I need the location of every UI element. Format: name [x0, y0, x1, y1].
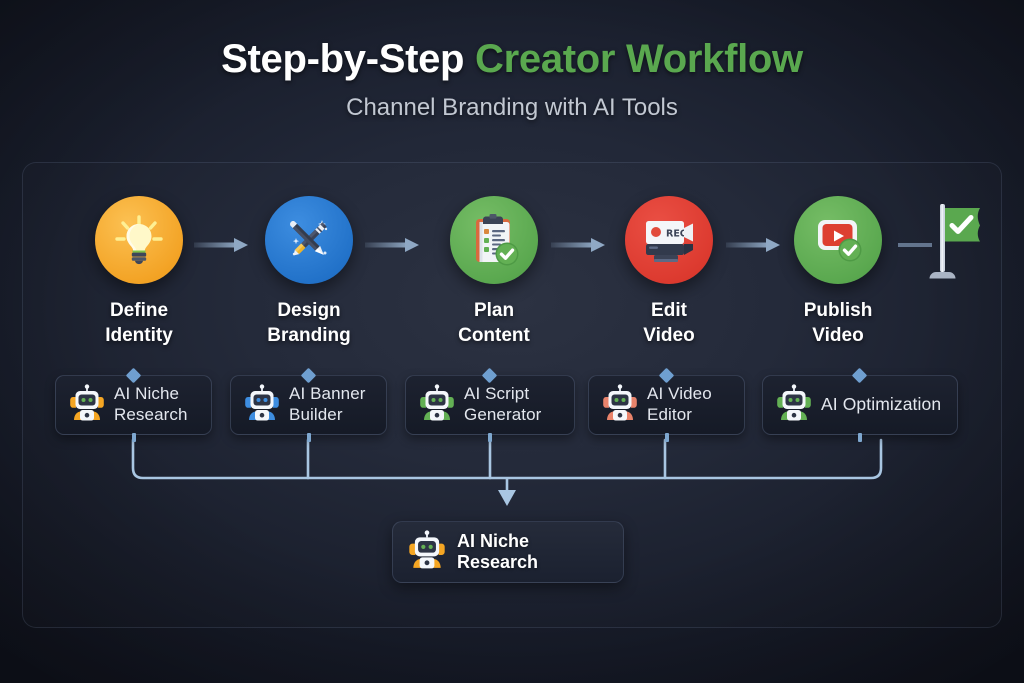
arrow-right-icon	[726, 237, 782, 253]
tool-card-label: AI Video Editor	[647, 384, 712, 425]
workflow-step-label: Plan Content	[419, 298, 569, 349]
arrow-right-icon	[194, 237, 250, 253]
step-label-line2: Branding	[234, 323, 384, 348]
checkered-goal-flag-icon	[922, 200, 1002, 286]
header: Step-by-Step Creator Workflow Channel Br…	[0, 38, 1024, 122]
card-bottom-connector-stub	[132, 433, 136, 442]
tool-card-ai-script-generator[interactable]: AI Script Generator	[405, 375, 575, 435]
step-label-line2: Content	[419, 323, 569, 348]
tool-card-label-line2: Generator	[464, 405, 541, 426]
card-bottom-connector-stub	[665, 433, 669, 442]
workflow-step-edit-video[interactable]: REC Edit Video	[594, 196, 744, 349]
workflow-step-plan-content[interactable]: Plan Content	[419, 196, 569, 349]
robot-icon	[69, 384, 105, 427]
tool-card-ai-niche-research[interactable]: AI Niche Research	[55, 375, 212, 435]
tool-card-label-line1: AI Video	[647, 384, 712, 405]
robot-icon	[419, 384, 455, 427]
step-label-line1: Design	[234, 298, 384, 323]
svg-text:REC: REC	[666, 229, 687, 240]
step-label-line1: Edit	[594, 298, 744, 323]
step-label-line2: Video	[594, 323, 744, 348]
tool-card-ai-video-editor[interactable]: AI Video Editor	[588, 375, 745, 435]
design-tools-icon	[265, 196, 353, 284]
robot-icon	[776, 384, 812, 427]
step-label-line2: Identity	[64, 323, 214, 348]
page-title-part2: Creator Workflow	[475, 37, 803, 81]
robot-icon	[244, 384, 280, 427]
play-button-check-icon	[794, 196, 882, 284]
tool-card-label-line1: AI Script	[464, 384, 541, 405]
page-subtitle: Channel Branding with AI Tools	[0, 94, 1024, 122]
arrow-right-icon	[551, 237, 607, 253]
lightbulb-icon	[95, 196, 183, 284]
tool-card-label: AI Banner Builder	[289, 384, 366, 425]
card-bottom-connector-stub	[858, 433, 862, 442]
step-label-line2: Video	[763, 323, 913, 348]
tool-card-label-line1: AI Niche	[114, 384, 188, 405]
step-label-line1: Publish	[763, 298, 913, 323]
step-label-line1: Define	[64, 298, 214, 323]
workflow-step-label: Publish Video	[763, 298, 913, 349]
tool-card-ai-optimization[interactable]: AI Optimization	[762, 375, 958, 435]
tool-card-label-line2: Builder	[289, 405, 366, 426]
page-title-part1: Step-by-Step	[221, 37, 464, 81]
arrow-right-icon	[365, 237, 421, 253]
workflow-step-label: Edit Video	[594, 298, 744, 349]
workflow-step-publish-video[interactable]: Publish Video	[763, 196, 913, 349]
workflow-step-define-identity[interactable]: Define Identity	[64, 196, 214, 349]
tool-card-label-line2: Editor	[647, 405, 712, 426]
output-card-label: AI Niche Research	[457, 531, 608, 573]
workflow-step-design-branding[interactable]: Design Branding	[234, 196, 384, 349]
robot-icon	[408, 530, 446, 575]
workflow-step-label: Define Identity	[64, 298, 214, 349]
step-label-line1: Plan	[419, 298, 569, 323]
card-bottom-connector-stub	[307, 433, 311, 442]
tool-card-label: AI Niche Research	[114, 384, 188, 425]
card-bottom-connector-stub	[488, 433, 492, 442]
page-title: Step-by-Step Creator Workflow	[0, 38, 1024, 80]
output-card-ai-niche-research[interactable]: AI Niche Research	[392, 521, 624, 583]
tool-card-label-line2: Research	[114, 405, 188, 426]
robot-icon	[602, 384, 638, 427]
clipboard-check-icon	[450, 196, 538, 284]
tool-card-label-line1: AI Banner	[289, 384, 366, 405]
workflow-step-label: Design Branding	[234, 298, 384, 349]
tool-card-ai-banner-builder[interactable]: AI Banner Builder	[230, 375, 387, 435]
video-camera-rec-icon: REC	[625, 196, 713, 284]
tool-card-label: AI Script Generator	[464, 384, 541, 425]
tool-card-label: AI Optimization	[821, 394, 941, 415]
